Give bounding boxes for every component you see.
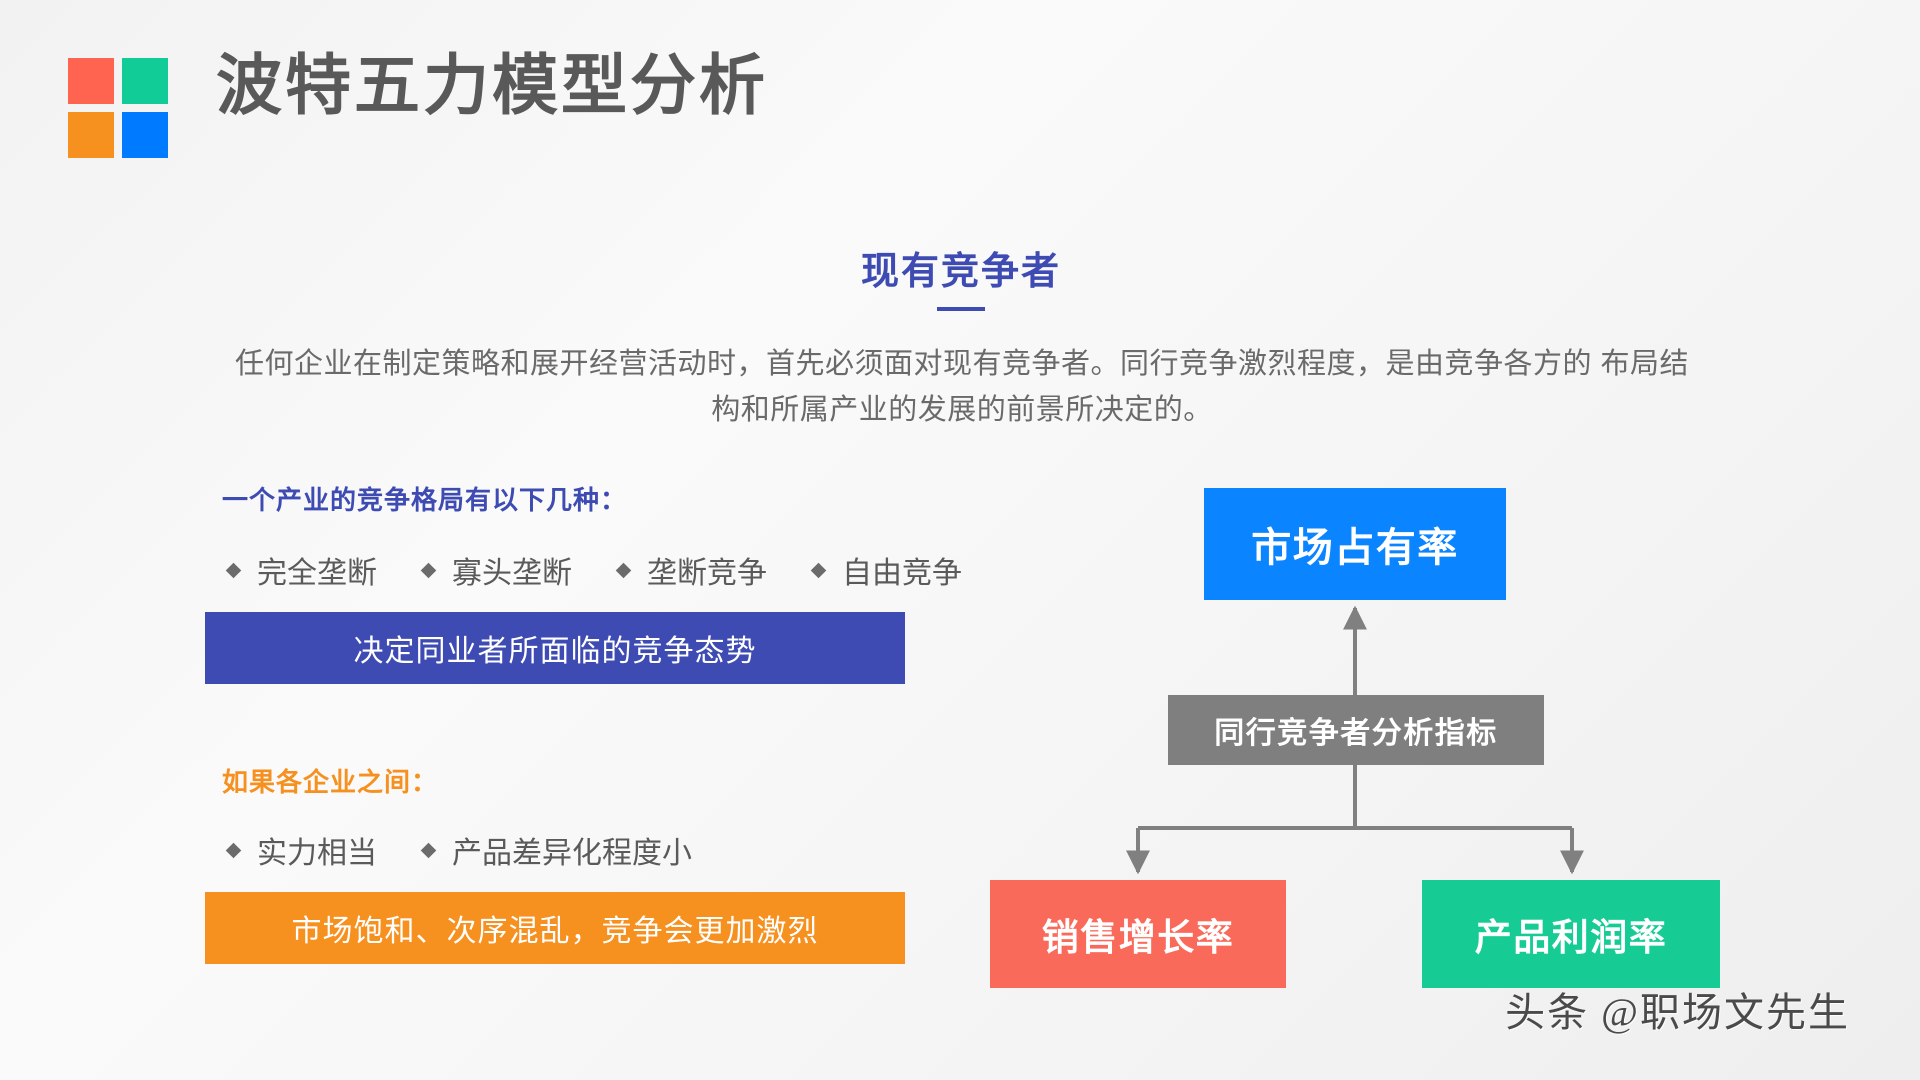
diamond-bullet-icon (616, 562, 632, 578)
list-item-label: 完全垄断 (257, 548, 377, 592)
logo-square-red (68, 58, 114, 104)
list-item: 寡头垄断 (423, 548, 572, 592)
section-heading-label: 现有竞争者 (836, 240, 1086, 295)
logo-square-orange (68, 112, 114, 158)
competition-bullet-list: 完全垄断 寡头垄断 垄断竞争 自由竞争 (228, 548, 962, 592)
section-heading-underline (937, 307, 985, 311)
section-heading: 现有竞争者 (836, 240, 1086, 311)
diamond-bullet-icon (421, 562, 437, 578)
list-item-label: 垄断竞争 (647, 548, 767, 592)
intro-paragraph: 任何企业在制定策略和展开经营活动时，首先必须面对现有竞争者。同行竞争激烈程度，是… (222, 342, 1702, 434)
list-item: 垄断竞争 (618, 548, 767, 592)
competition-subheading: 一个产业的竞争格局有以下几种： (222, 480, 627, 517)
enterprise-banner-label: 市场饱和、次序混乱，竞争会更加激烈 (292, 906, 819, 950)
list-item: 完全垄断 (228, 548, 377, 592)
node-sales-growth-label: 销售增长率 (1042, 907, 1235, 961)
competition-banner: 决定同业者所面临的竞争态势 (205, 612, 905, 684)
page-title: 波特五力模型分析 (216, 48, 768, 124)
node-market-share-label: 市场占有率 (1251, 515, 1459, 573)
list-item-label: 自由竞争 (842, 548, 962, 592)
node-product-profit: 产品利润率 (1422, 880, 1720, 988)
node-market-share: 市场占有率 (1204, 488, 1506, 600)
node-product-profit-label: 产品利润率 (1475, 907, 1668, 961)
slide-header: 波特五力模型分析 (0, 0, 1920, 190)
list-item-label: 产品差异化程度小 (452, 828, 692, 872)
diamond-bullet-icon (226, 842, 242, 858)
node-competitor-metric-label: 同行竞争者分析指标 (1214, 708, 1498, 752)
logo-square-green (122, 58, 168, 104)
logo (68, 58, 168, 158)
list-item: 自由竞争 (813, 548, 962, 592)
list-item-label: 实力相当 (257, 828, 377, 872)
logo-square-blue (122, 112, 168, 158)
enterprise-subheading: 如果各企业之间： (222, 762, 438, 799)
competitor-analysis-diagram: 市场占有率 同行竞争者分析指标 销售增长率 产品利润率 (990, 480, 1770, 1000)
node-competitor-metric: 同行竞争者分析指标 (1168, 695, 1544, 765)
diamond-bullet-icon (811, 562, 827, 578)
watermark: 头条 @职场文先生 (1505, 980, 1850, 1038)
intro-line-1: 任何企业在制定策略和展开经营活动时，首先必须面对现有竞争者。同行竞争激烈程度，是… (235, 348, 1592, 380)
diamond-bullet-icon (421, 842, 437, 858)
list-item-label: 寡头垄断 (452, 548, 572, 592)
list-item: 实力相当 (228, 828, 377, 872)
competition-banner-label: 决定同业者所面临的竞争态势 (354, 626, 757, 670)
enterprise-bullet-list: 实力相当 产品差异化程度小 (228, 828, 692, 872)
list-item: 产品差异化程度小 (423, 828, 692, 872)
node-sales-growth: 销售增长率 (990, 880, 1286, 988)
enterprise-banner: 市场饱和、次序混乱，竞争会更加激烈 (205, 892, 905, 964)
diamond-bullet-icon (226, 562, 242, 578)
